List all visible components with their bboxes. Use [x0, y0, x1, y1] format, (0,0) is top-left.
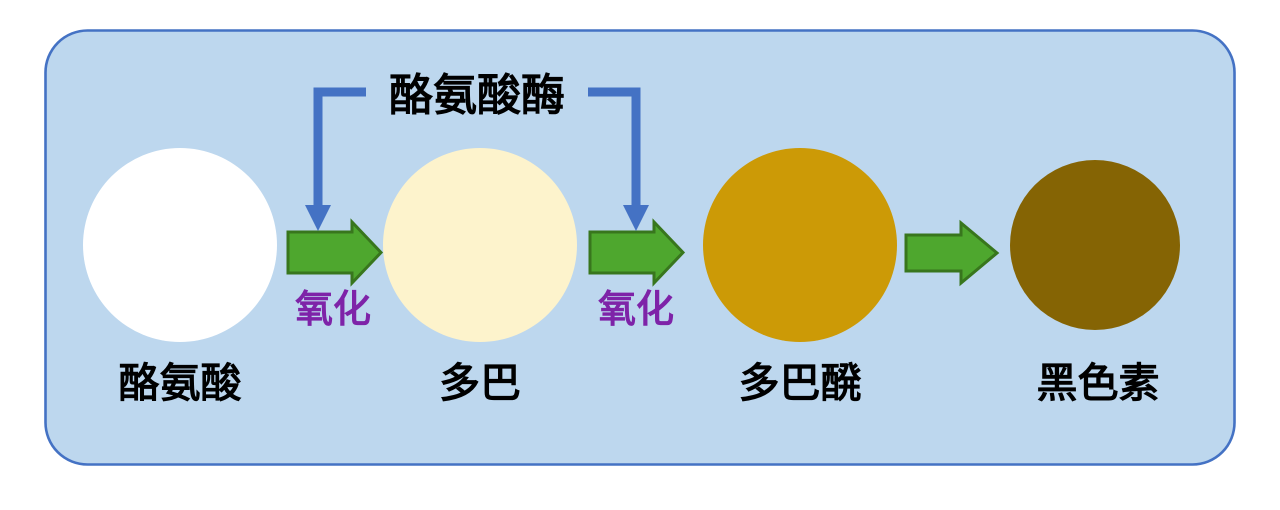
species-circle-dopaquinone: [703, 148, 897, 342]
species-label-melanin: 黑色素: [1037, 359, 1160, 407]
species-label-dopaquinone: 多巴醗: [739, 359, 862, 407]
species-circle-tyrosine: [83, 148, 277, 342]
reaction-label-oxidation-2: 氧化: [598, 287, 674, 331]
melanin-pathway-diagram: 酪氨酸酶 氧化 氧化 酪氨酸 多巴 多巴醗 黑色素: [0, 0, 1280, 510]
species-label-tyrosine: 酪氨酸: [119, 359, 243, 407]
species-circle-dopa: [383, 148, 577, 342]
species-label-dopa: 多巴: [439, 359, 521, 407]
enzyme-label: 酪氨酸酶: [389, 70, 565, 121]
reaction-label-oxidation-1: 氧化: [295, 287, 371, 331]
species-circle-melanin: [1010, 160, 1180, 330]
diagram-canvas: 酪氨酸酶 氧化 氧化 酪氨酸 多巴 多巴醗 黑色素: [0, 0, 1280, 510]
